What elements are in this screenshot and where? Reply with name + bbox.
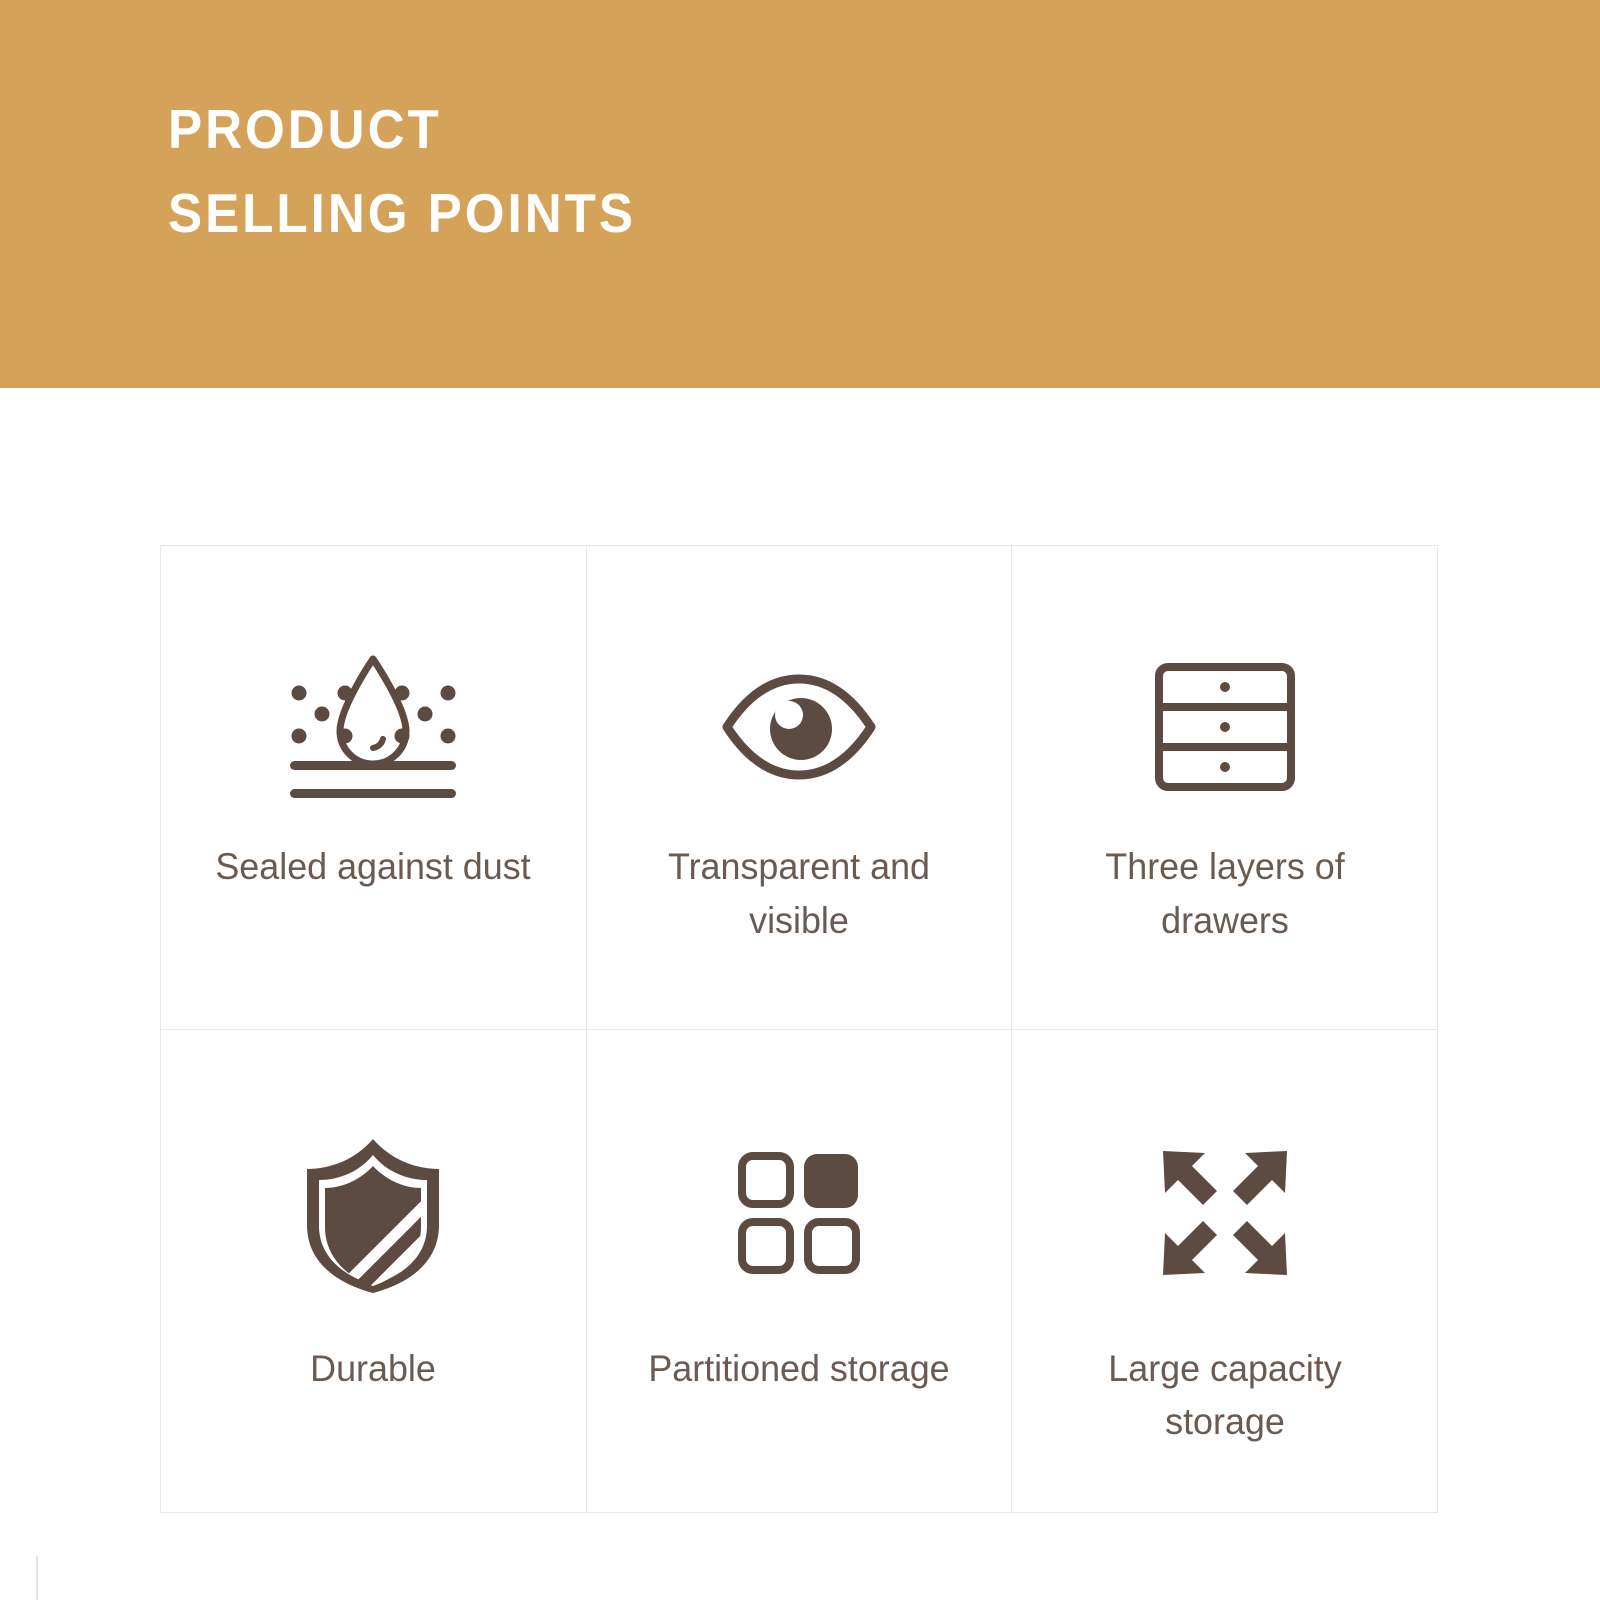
selling-points-grid: Sealed against dust Transparent and visi… bbox=[160, 545, 1438, 1513]
feature-cell-sealed-against-dust[interactable]: Sealed against dust bbox=[161, 546, 587, 1030]
drawers-icon bbox=[1130, 642, 1320, 812]
feature-cell-three-layers-of-drawers[interactable]: Three layers of drawers bbox=[1012, 546, 1438, 1030]
grid-squares-icon bbox=[704, 1128, 894, 1298]
page-title: PRODUCT SELLING POINTS bbox=[168, 88, 636, 255]
feature-cell-partitioned-storage[interactable]: Partitioned storage bbox=[587, 1030, 1013, 1514]
expand-arrows-icon bbox=[1130, 1128, 1320, 1298]
eye-icon bbox=[704, 642, 894, 812]
feature-label: Partitioned storage bbox=[639, 1342, 959, 1396]
page-edge-marker bbox=[36, 1556, 38, 1600]
feature-cell-large-capacity-storage[interactable]: Large capacity storage bbox=[1012, 1030, 1438, 1514]
feature-label: Transparent and visible bbox=[639, 840, 959, 947]
feature-label: Sealed against dust bbox=[213, 840, 533, 894]
feature-label: Three layers of drawers bbox=[1065, 840, 1385, 947]
shield-icon bbox=[278, 1128, 468, 1298]
dust-droplet-icon bbox=[278, 642, 468, 812]
feature-cell-transparent-and-visible[interactable]: Transparent and visible bbox=[587, 546, 1013, 1030]
feature-label: Durable bbox=[213, 1342, 533, 1396]
feature-label: Large capacity storage bbox=[1065, 1342, 1385, 1449]
header-banner: PRODUCT SELLING POINTS bbox=[0, 0, 1600, 388]
feature-cell-durable[interactable]: Durable bbox=[161, 1030, 587, 1514]
